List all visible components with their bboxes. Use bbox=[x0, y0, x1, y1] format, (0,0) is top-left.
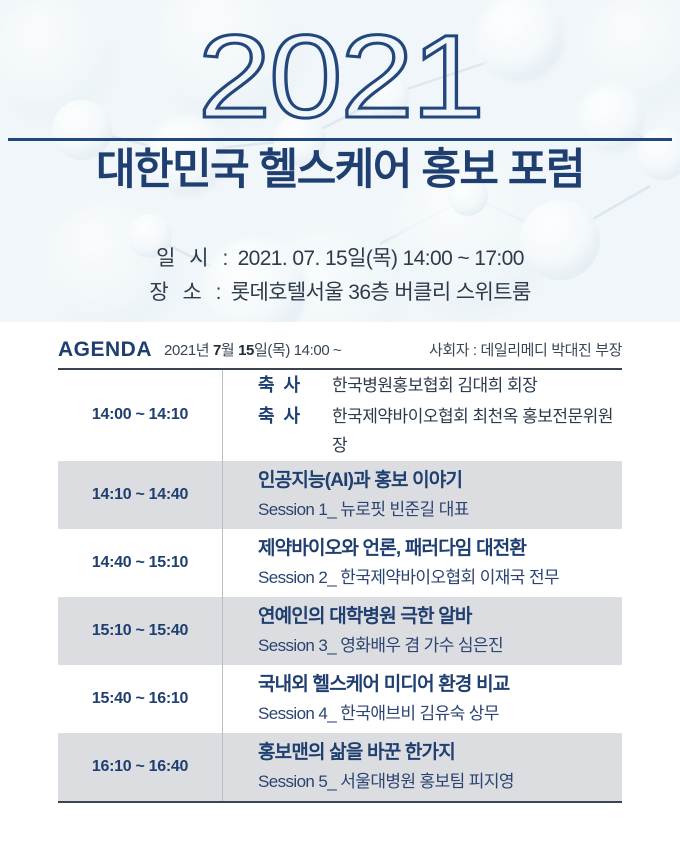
greeting-speaker: 한국제약바이오협회 최천옥 홍보전문위원장 bbox=[332, 403, 622, 461]
row-time: 16:10 ~ 16:40 bbox=[58, 758, 222, 776]
agenda-table: 14:00 ~ 14:10 축 사 한국병원홍보협회 김대희 회장 축 사 한국… bbox=[58, 368, 622, 803]
event-date-label: 일 시 : bbox=[156, 247, 232, 270]
row-time: 15:40 ~ 16:10 bbox=[58, 690, 222, 708]
greeting-line: 축 사 한국병원홍보협회 김대희 회장 bbox=[258, 370, 622, 401]
row-time: 14:10 ~ 14:40 bbox=[58, 486, 222, 504]
page-title: 대한민국 헬스케어 홍보 포럼 bbox=[0, 146, 680, 195]
table-row: 14:10 ~ 14:40 인공지능(AI)과 홍보 이야기 Session 1… bbox=[58, 461, 622, 529]
poster-header: 2021 대한민국 헬스케어 홍보 포럼 일 시 : 2021. 07. 15일… bbox=[0, 0, 680, 322]
greeting-label: 축 사 bbox=[258, 370, 332, 401]
table-row: 14:00 ~ 14:10 축 사 한국병원홍보협회 김대희 회장 축 사 한국… bbox=[58, 370, 622, 461]
agenda-header: AGENDA 2021년 7월 15일(목) 14:00 ~ 사회자 : 데일리… bbox=[58, 330, 622, 362]
session-title: 제약바이오와 언론, 패러다임 대전환 bbox=[258, 535, 622, 563]
greeting-line: 축 사 한국제약바이오협회 최천옥 홍보전문위원장 bbox=[258, 401, 622, 461]
year-text: 2021 bbox=[197, 16, 482, 140]
session-speaker: Session 3_ 영화배우 겸 가수 심은진 bbox=[258, 633, 622, 659]
session-title: 연예인의 대학병원 극한 알바 bbox=[258, 603, 622, 631]
agenda-date: 2021년 7월 15일(목) 14:00 ~ bbox=[164, 339, 341, 362]
agenda-date-month-suffix: 월 bbox=[221, 342, 238, 359]
agenda-heading: AGENDA bbox=[58, 338, 152, 362]
year-heading: 2021 bbox=[0, 16, 680, 140]
session-title: 국내외 헬스케어 미디어 환경 비교 bbox=[258, 671, 622, 699]
session-speaker: Session 1_ 뉴로핏 빈준길 대표 bbox=[258, 497, 622, 523]
agenda-section: AGENDA 2021년 7월 15일(목) 14:00 ~ 사회자 : 데일리… bbox=[0, 330, 680, 803]
table-row: 14:40 ~ 15:10 제약바이오와 언론, 패러다임 대전환 Sessio… bbox=[58, 529, 622, 597]
row-body: 인공지능(AI)과 홍보 이야기 Session 1_ 뉴로핏 빈준길 대표 bbox=[222, 467, 622, 522]
greeting-speaker: 한국병원홍보협회 김대희 회장 bbox=[332, 372, 537, 401]
row-time: 14:40 ~ 15:10 bbox=[58, 554, 222, 572]
event-venue-line: 장 소 : 롯데호텔서울 36층 버클리 스위트룸 bbox=[0, 276, 680, 310]
table-row: 15:40 ~ 16:10 국내외 헬스케어 미디어 환경 비교 Session… bbox=[58, 665, 622, 733]
agenda-date-suffix: 일(목) 14:00 ~ bbox=[254, 342, 341, 359]
row-body: 연예인의 대학병원 극한 알바 Session 3_ 영화배우 겸 가수 심은진 bbox=[222, 603, 622, 658]
agenda-date-month: 7 bbox=[213, 342, 221, 359]
session-speaker: Session 5_ 서울대병원 홍보팀 피지영 bbox=[258, 769, 622, 795]
event-venue-label: 장 소 : bbox=[149, 281, 225, 304]
event-date-line: 일 시 : 2021. 07. 15일(목) 14:00 ~ 17:00 bbox=[0, 242, 680, 276]
agenda-column-divider bbox=[222, 370, 223, 801]
session-speaker: Session 2_ 한국제약바이오협회 이재국 전무 bbox=[258, 565, 622, 591]
table-row: 16:10 ~ 16:40 홍보맨의 삶을 바꾼 한가지 Session 5_ … bbox=[58, 733, 622, 801]
agenda-date-day: 15 bbox=[238, 342, 254, 359]
agenda-host: 사회자 : 데일리메디 박대진 부장 bbox=[429, 339, 622, 362]
session-speaker: Session 4_ 한국애브비 김유숙 상무 bbox=[258, 701, 622, 727]
row-body: 국내외 헬스케어 미디어 환경 비교 Session 4_ 한국애브비 김유숙 … bbox=[222, 671, 622, 726]
session-title: 인공지능(AI)과 홍보 이야기 bbox=[258, 467, 622, 495]
event-venue-value: 롯데호텔서울 36층 버클리 스위트룸 bbox=[231, 281, 531, 304]
row-body: 축 사 한국병원홍보협회 김대희 회장 축 사 한국제약바이오협회 최천옥 홍보… bbox=[222, 370, 622, 461]
event-date-value: 2021. 07. 15일(목) 14:00 ~ 17:00 bbox=[238, 247, 524, 270]
row-body: 홍보맨의 삶을 바꾼 한가지 Session 5_ 서울대병원 홍보팀 피지영 bbox=[222, 739, 622, 794]
row-time: 14:00 ~ 14:10 bbox=[58, 406, 222, 424]
agenda-date-prefix: 2021년 bbox=[164, 342, 213, 359]
row-time: 15:10 ~ 15:40 bbox=[58, 622, 222, 640]
session-title: 홍보맨의 삶을 바꾼 한가지 bbox=[258, 739, 622, 767]
greeting-label: 축 사 bbox=[258, 401, 332, 432]
event-meta: 일 시 : 2021. 07. 15일(목) 14:00 ~ 17:00 장 소… bbox=[0, 242, 680, 309]
table-row: 15:10 ~ 15:40 연예인의 대학병원 극한 알바 Session 3_… bbox=[58, 597, 622, 665]
row-body: 제약바이오와 언론, 패러다임 대전환 Session 2_ 한국제약바이오협회… bbox=[222, 535, 622, 590]
